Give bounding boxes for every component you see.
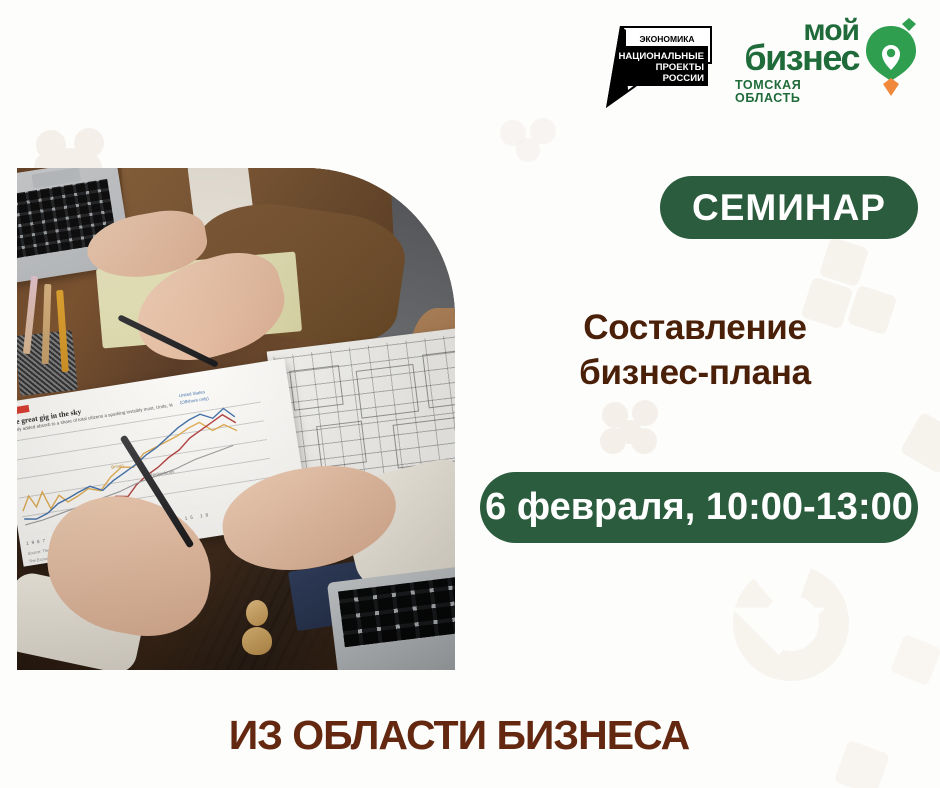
national-projects-logo: ЭКОНОМИКА НАЦИОНАЛЬНЫЕ ПРОЕКТЫ РОССИИ — [604, 18, 716, 110]
page-title: Составление бизнес-плана — [470, 306, 920, 396]
page-title-line2: бизнес-плана — [470, 351, 920, 396]
np-badge-label: ЭКОНОМИКА — [639, 34, 694, 44]
watermark-donut-chart — [733, 565, 849, 681]
page-title-line1: Составление — [470, 306, 920, 351]
np-line3: РОССИИ — [663, 73, 704, 84]
location-pin-icon — [861, 18, 917, 98]
poster-canvas: The great gig in the sky Nearly added ab… — [0, 0, 940, 788]
photo-vignette — [17, 168, 455, 670]
np-line1: НАЦИОНАЛЬНЫЕ — [618, 51, 704, 62]
my-business-logo: мой бизнес ТОМСКАЯ ОБЛАСТЬ — [735, 16, 917, 98]
mb-logo-region: ТОМСКАЯ ОБЛАСТЬ — [735, 79, 859, 104]
date-time-badge[interactable]: 6 февраля, 10:00-13:00 — [480, 472, 918, 543]
event-photo: The great gig in the sky Nearly added ab… — [17, 168, 455, 670]
seminar-badge[interactable]: СЕМИНАР — [660, 176, 918, 239]
mb-logo-line2: бизнес — [744, 40, 859, 76]
np-line2: ПРОЕКТЫ — [656, 62, 704, 73]
footer-slogan: ИЗ ОБЛАСТИ БИЗНЕСА — [0, 712, 940, 759]
